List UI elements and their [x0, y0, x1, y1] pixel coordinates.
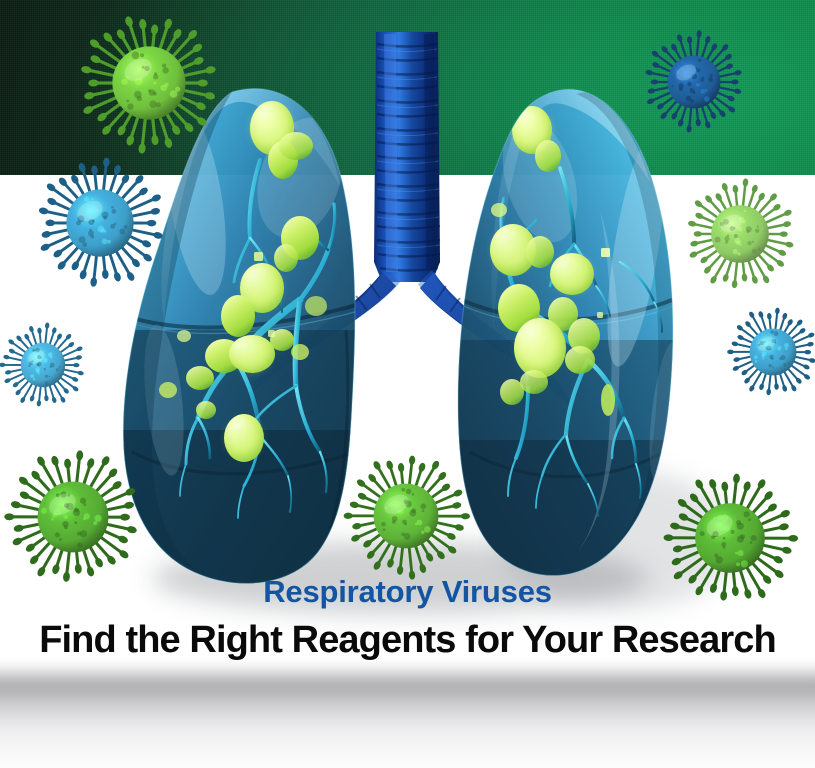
- virus-blue-mid-left-icon: [0, 322, 84, 406]
- page-subtitle: Find the Right Reagents for Your Researc…: [0, 620, 815, 662]
- bronchi: [248, 270, 572, 410]
- virus-blue-mid-right-icon: [727, 307, 815, 395]
- virus-green-lower-left-icon: [4, 450, 137, 582]
- virus-blue-upper-left-icon: [38, 157, 163, 287]
- bottom-drop-shadow: [0, 676, 815, 768]
- promo-banner-image: Respiratory Viruses Find the Right Reage…: [0, 0, 815, 768]
- virus-green-lower-center-icon: [344, 455, 470, 580]
- page-title: Respiratory Viruses: [0, 575, 815, 610]
- virus-green-upper-right-icon: [688, 178, 794, 288]
- top-green-banner: [0, 0, 815, 175]
- caption-block: Respiratory Viruses Find the Right Reage…: [0, 575, 815, 662]
